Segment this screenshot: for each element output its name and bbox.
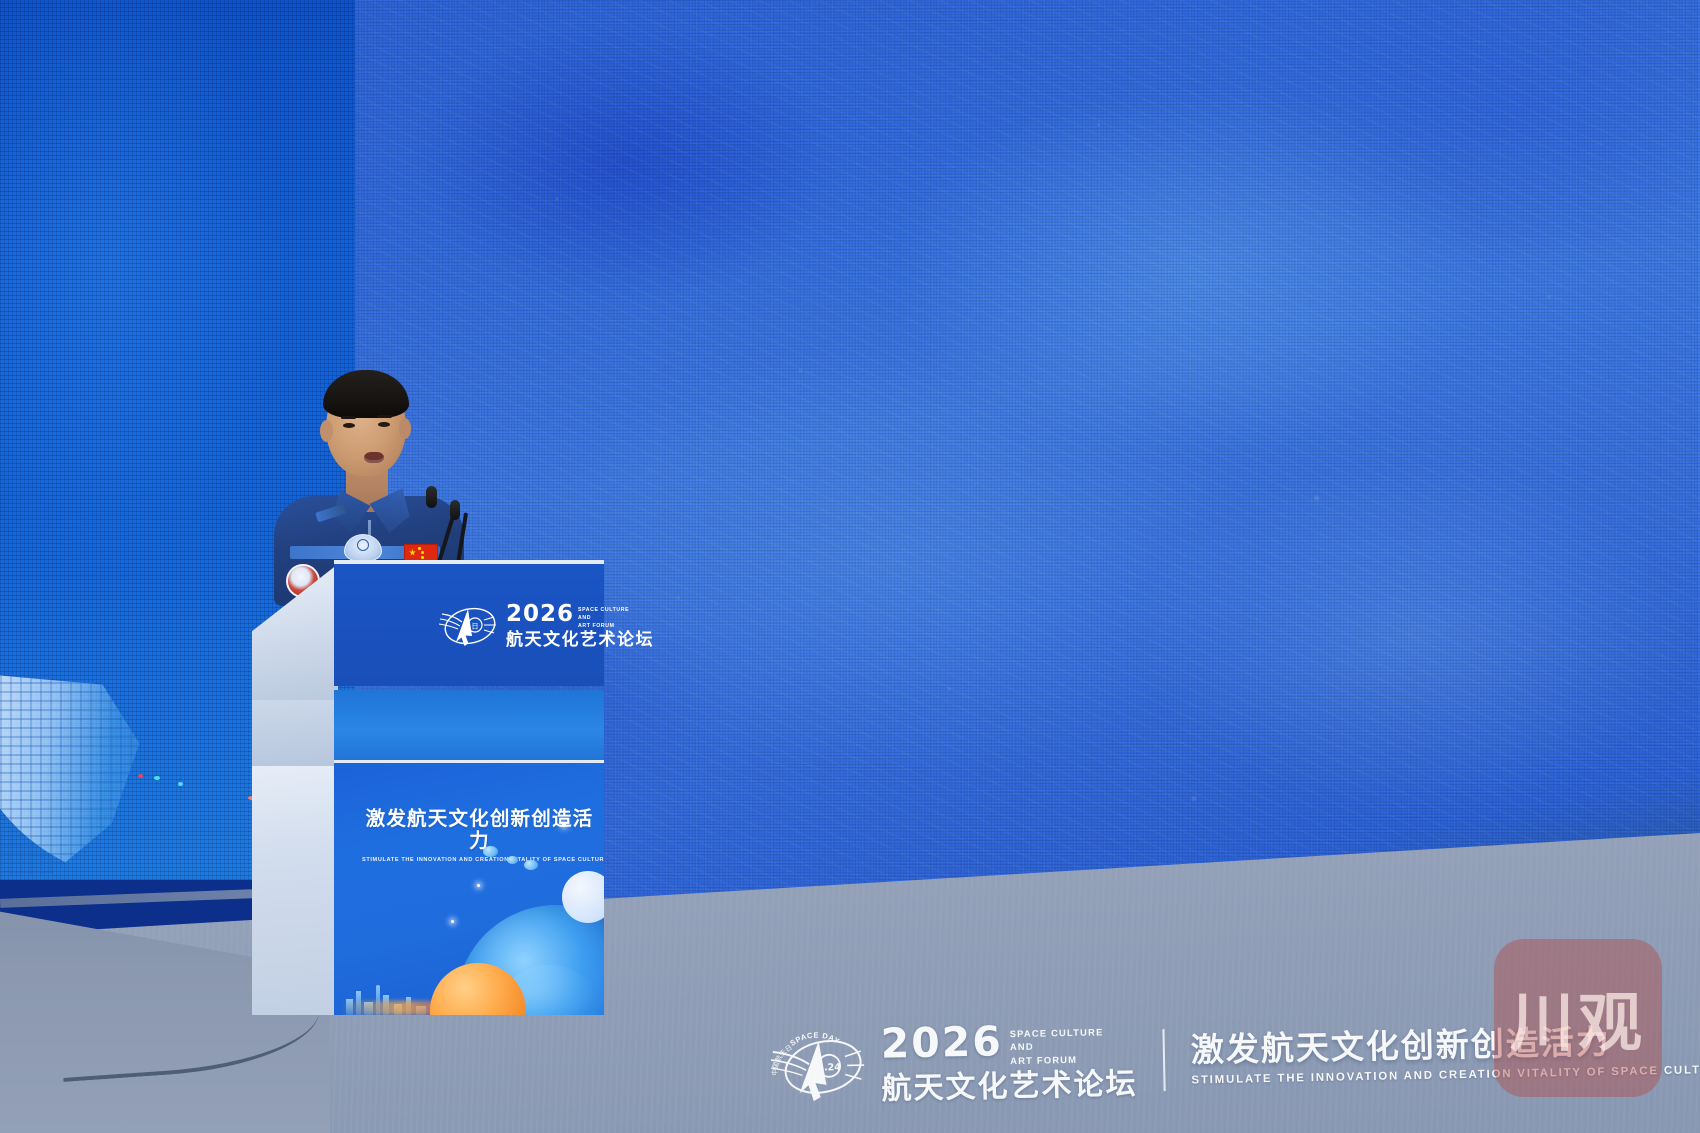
podium-logo-en-2: AND	[578, 615, 591, 621]
speaker-ear-right	[399, 418, 411, 439]
star-1-graphic	[562, 823, 566, 827]
podium-top-side-face	[252, 564, 338, 704]
space-day-of-china-emblem: 4.24 SPACE DAY OF CHINA 中国航天日	[768, 1026, 866, 1108]
podium-body-front-face: 激发航天文化创新创造活力 STIMULATE THE INNOVATION AN…	[334, 760, 604, 1015]
microphone-head-left	[426, 486, 437, 508]
bottom-banner-en-2: AND	[1010, 1041, 1034, 1052]
svg-text:日: 日	[472, 623, 479, 631]
space-arrow-orbit-emblem: 日	[434, 598, 498, 656]
speaker-eyebrow-left	[341, 416, 356, 419]
podium-mid-band	[334, 690, 604, 770]
speaker-eyebrow-right	[377, 415, 392, 418]
speaker-hair	[323, 370, 409, 418]
podium-forum-logo: 日 2026 SPACE CULTURE AND ART	[434, 582, 684, 672]
bottom-banner-en-3: ART FORUM	[1010, 1054, 1077, 1066]
watermark-text: 川观	[1510, 972, 1646, 1064]
star-2-graphic	[477, 884, 480, 887]
moonlet-2-graphic	[507, 856, 518, 864]
podium-logo-english: SPACE CULTURE AND ART FORUM	[578, 604, 629, 630]
podium: 日 2026 SPACE CULTURE AND ART	[252, 560, 604, 1015]
moonlet-3-graphic	[524, 860, 538, 870]
podium-logo-text: 2026 SPACE CULTURE AND ART FORUM 航天文化艺术论…	[506, 604, 654, 650]
star-3-graphic	[451, 920, 454, 923]
podium-slogan-english: STIMULATE THE INNOVATION AND CREATION VI…	[362, 857, 597, 863]
mission-badge-patch	[344, 534, 382, 562]
bottom-banner-divider	[1162, 1029, 1165, 1091]
moonlet-1-graphic	[483, 846, 498, 857]
podium-logo-year: 2026	[506, 604, 574, 626]
speaker-eye-left	[343, 423, 355, 428]
podium-mid-side-face	[252, 700, 338, 772]
speaker-ear-left	[320, 420, 333, 442]
podium-logo-en-1: SPACE CULTURE	[578, 607, 629, 613]
bottom-banner-en-1: SPACE CULTURE	[1010, 1026, 1104, 1039]
podium-logo-en-3: ART FORUM	[578, 623, 615, 629]
podium-top-front-face: 日 2026 SPACE CULTURE AND ART	[334, 560, 604, 686]
bottom-banner-english: SPACE CULTURE AND ART FORUM	[1009, 1021, 1104, 1068]
bottom-banner-forum-logo: 2026 SPACE CULTURE AND ART FORUM 航天文化艺术论…	[880, 1020, 1138, 1106]
speaker-eye-right	[378, 422, 390, 427]
podium-logo-chinese: 航天文化艺术论坛	[506, 631, 654, 650]
speaker-mouth	[364, 452, 384, 463]
podium-body-side-face	[252, 766, 338, 1015]
microphone-head-right	[450, 500, 460, 520]
watermark-badge: 川观	[1494, 939, 1662, 1097]
bottom-banner-year: 2026	[880, 1023, 1003, 1063]
bottom-banner-chinese: 航天文化艺术论坛	[881, 1067, 1138, 1106]
screenshot-scene: 日 2026 SPACE CULTURE AND ART	[0, 0, 1700, 1133]
podium-slogan-chinese: 激发航天文化创新创造活力	[362, 808, 597, 853]
podium-slogan-block: 激发航天文化创新创造活力 STIMULATE THE INNOVATION AN…	[362, 808, 597, 863]
